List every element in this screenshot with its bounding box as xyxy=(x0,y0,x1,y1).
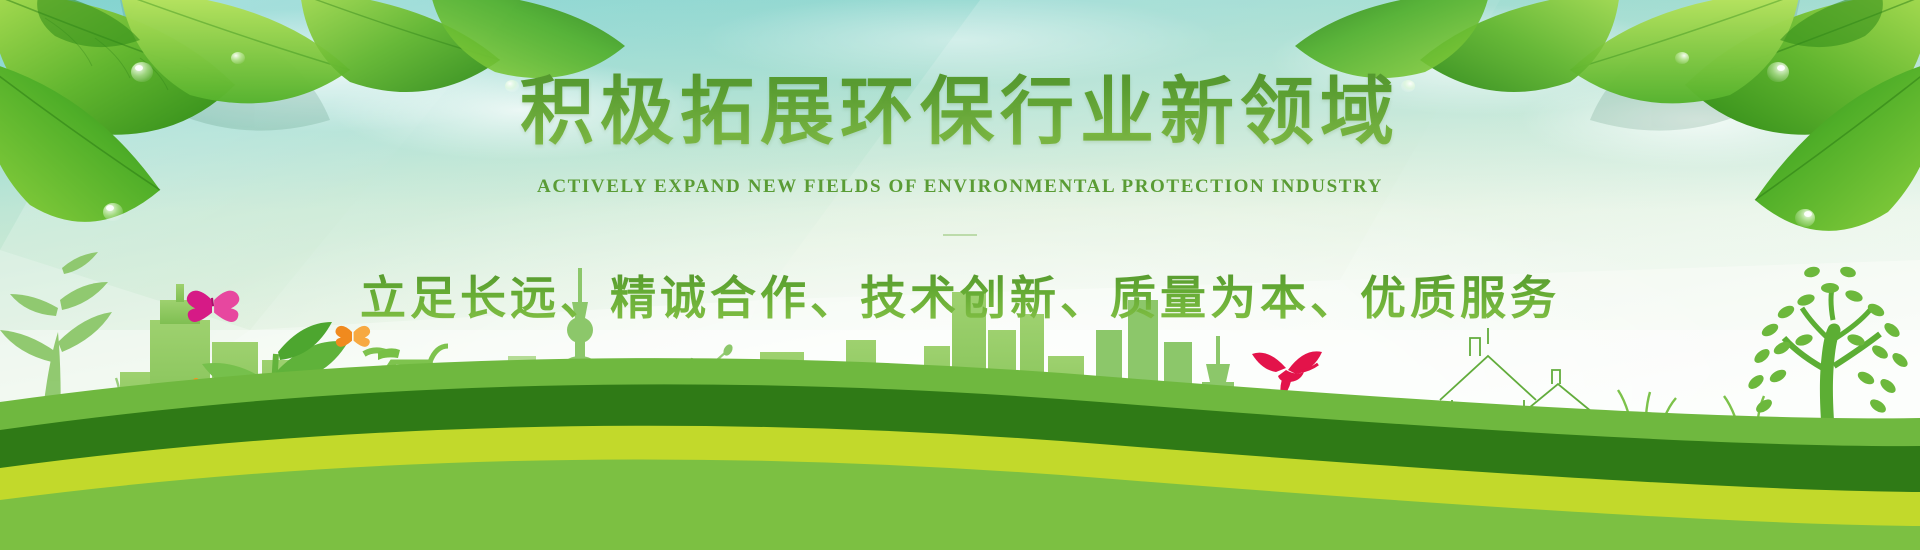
page-title: 积极拓展环保行业新领域 xyxy=(0,52,1920,159)
environmental-banner: 积极拓展环保行业新领域 ACTIVELY EXPAND NEW FIELDS O… xyxy=(0,0,1920,550)
slogan-text: 立足长远、精诚合作、技术创新、质量为本、优质服务 xyxy=(0,262,1920,328)
divider xyxy=(943,234,977,236)
subtitle-english: ACTIVELY EXPAND NEW FIELDS OF ENVIRONMEN… xyxy=(0,176,1920,198)
